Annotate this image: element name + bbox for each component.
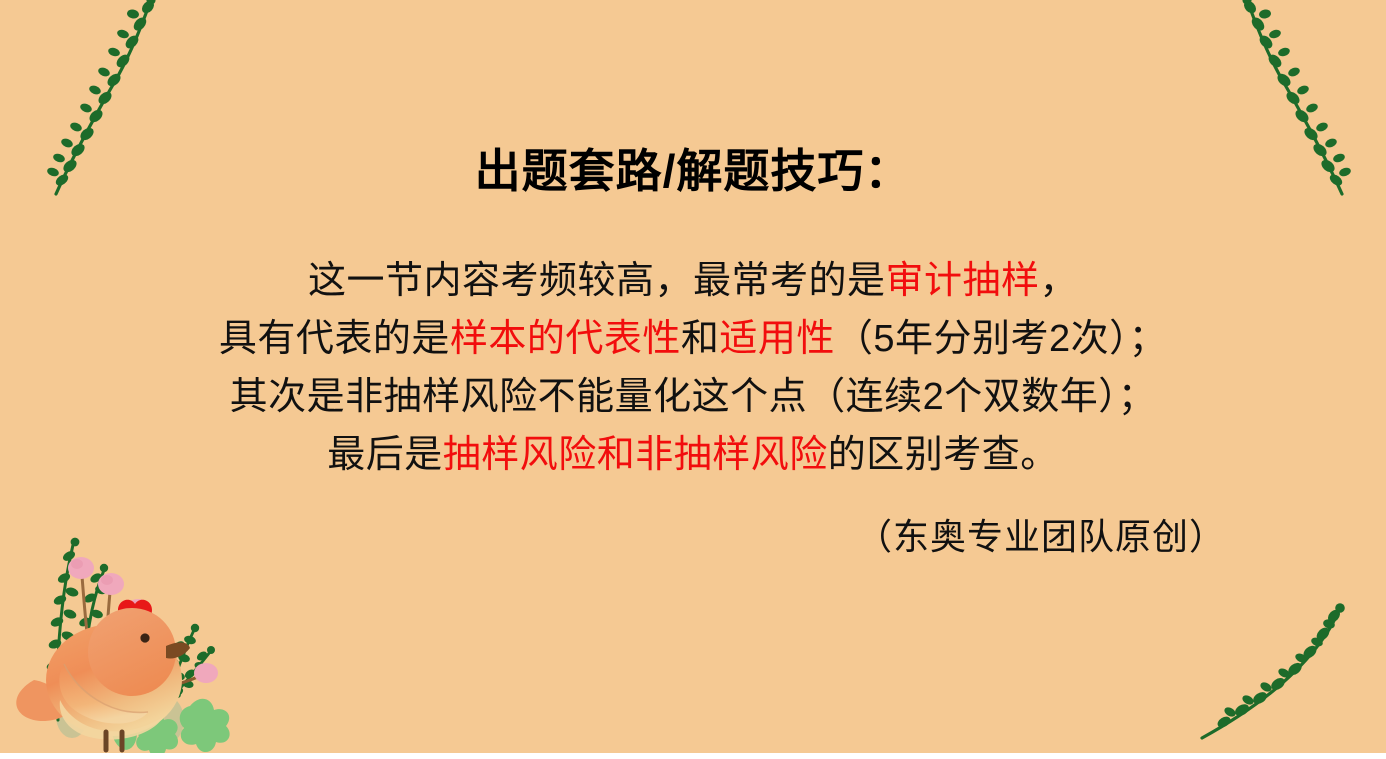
body-line: 这一节内容考频较高，最常考的是审计抽样，	[0, 252, 1386, 310]
text-segment-highlight: 适用性	[719, 318, 835, 360]
body-text-block: 这一节内容考频较高，最常考的是审计抽样， 具有代表的是样本的代表性和适用性（5年…	[0, 252, 1386, 484]
text-segment-highlight: 样本的代表性	[450, 318, 681, 360]
text-segment: ，	[1040, 260, 1079, 302]
text-segment: 和	[681, 318, 720, 360]
body-line: 其次是非抽样风险不能量化这个点（连续2个双数年）；	[0, 368, 1386, 426]
slide-canvas: 出题套路/解题技巧： 这一节内容考频较高，最常考的是审计抽样， 具有代表的是样本…	[0, 0, 1386, 759]
attribution-text: （东奥专业团队原创）	[0, 508, 1386, 560]
page-title: 出题套路/解题技巧：	[0, 146, 1386, 197]
text-segment: 最后是	[327, 434, 443, 476]
text-segment: 的区别考查。	[828, 434, 1059, 476]
slide-content: 出题套路/解题技巧： 这一节内容考频较高，最常考的是审计抽样， 具有代表的是样本…	[0, 0, 1386, 759]
body-line: 具有代表的是样本的代表性和适用性（5年分别考2次）；	[0, 310, 1386, 368]
text-segment: 这一节内容考频较高，最常考的是	[308, 260, 886, 302]
text-segment: 具有代表的是	[219, 318, 450, 360]
bottom-edge-strip	[0, 753, 1386, 759]
text-segment-highlight: 审计抽样	[885, 260, 1039, 302]
body-line: 最后是抽样风险和非抽样风险的区别考查。	[0, 426, 1386, 484]
text-segment: 其次是非抽样风险不能量化这个点（连续2个双数年）；	[230, 376, 1157, 418]
text-segment-highlight: 抽样风险和非抽样风险	[443, 434, 828, 476]
text-segment: （5年分别考2次）；	[835, 318, 1167, 360]
